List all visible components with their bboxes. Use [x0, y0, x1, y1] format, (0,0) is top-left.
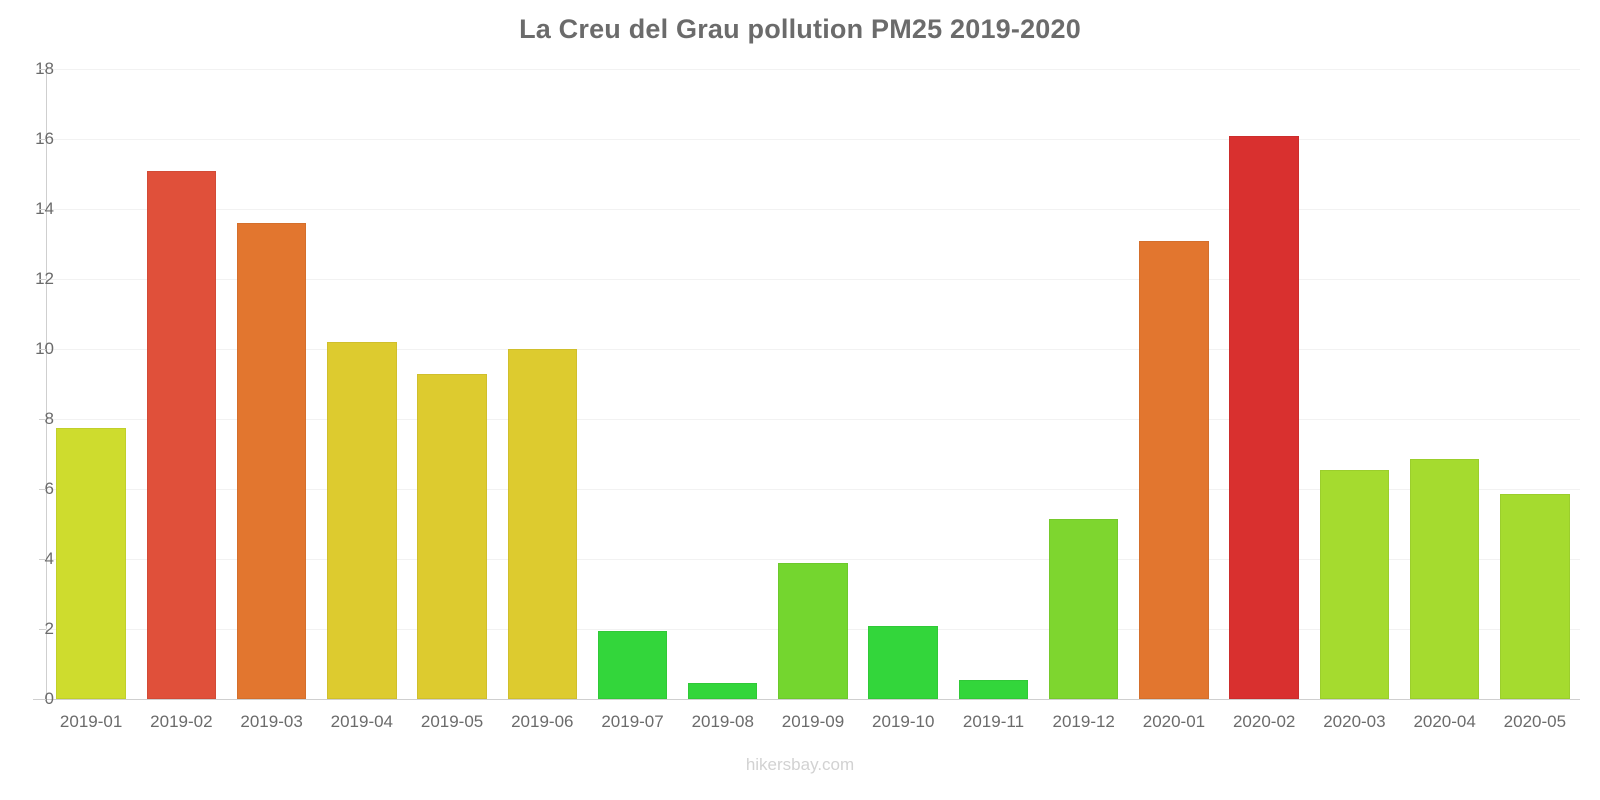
bar[interactable] [1500, 494, 1569, 699]
x-axis-tick-label: 2020-01 [1129, 712, 1219, 732]
bars-group [46, 69, 1580, 699]
x-axis-tick-label: 2019-05 [407, 712, 497, 732]
bar[interactable] [959, 680, 1028, 699]
x-axis-tick-label: 2019-09 [768, 712, 858, 732]
bar[interactable] [1410, 459, 1479, 699]
y-axis-tick-mark [39, 139, 46, 140]
x-axis-tick-label: 2019-04 [317, 712, 407, 732]
bar-slot [1129, 69, 1219, 699]
bar-slot [497, 69, 587, 699]
bar-slot [1219, 69, 1309, 699]
y-axis-tick-mark [39, 699, 46, 700]
x-axis-line [33, 699, 1580, 700]
y-axis-tick-mark [39, 349, 46, 350]
bar[interactable] [1139, 241, 1208, 700]
bar[interactable] [868, 626, 937, 700]
x-axis-tick-label: 2020-05 [1490, 712, 1580, 732]
x-axis-tick-label: 2020-04 [1400, 712, 1490, 732]
x-axis-tick-label: 2019-10 [858, 712, 948, 732]
bar-slot [858, 69, 948, 699]
bar-slot [948, 69, 1038, 699]
x-axis-tick-label: 2019-02 [136, 712, 226, 732]
x-axis-tick-label: 2019-01 [46, 712, 136, 732]
x-axis-tick-label: 2019-06 [497, 712, 587, 732]
x-axis-tick-label: 2019-11 [948, 712, 1038, 732]
bar-slot [317, 69, 407, 699]
bar-slot [1039, 69, 1129, 699]
y-axis-tick-mark [39, 629, 46, 630]
x-axis-tick-label: 2019-12 [1039, 712, 1129, 732]
bar-slot [1490, 69, 1580, 699]
bar-slot [407, 69, 497, 699]
bar-slot [587, 69, 677, 699]
bar[interactable] [598, 631, 667, 699]
chart-container: La Creu del Grau pollution PM25 2019-202… [0, 0, 1600, 800]
footer-credit: hikersbay.com [0, 755, 1600, 775]
y-axis-tick-mark [39, 419, 46, 420]
bar[interactable] [56, 428, 125, 699]
y-axis-tick-mark [39, 559, 46, 560]
y-axis-tick-mark [39, 489, 46, 490]
bar-slot [226, 69, 316, 699]
bar[interactable] [1320, 470, 1389, 699]
bar-slot [1400, 69, 1490, 699]
chart-title: La Creu del Grau pollution PM25 2019-202… [0, 14, 1600, 45]
bar[interactable] [688, 683, 757, 699]
x-axis-tick-label: 2019-08 [678, 712, 768, 732]
y-axis-tick-mark [39, 209, 46, 210]
bar-slot [136, 69, 226, 699]
x-axis-tick-label: 2019-07 [587, 712, 677, 732]
x-axis-tick-label: 2020-02 [1219, 712, 1309, 732]
bar[interactable] [1049, 519, 1118, 699]
bar[interactable] [508, 349, 577, 699]
bar[interactable] [1229, 136, 1298, 700]
y-axis-tick-mark [39, 279, 46, 280]
bar[interactable] [778, 563, 847, 700]
bar-slot [1309, 69, 1399, 699]
bar[interactable] [237, 223, 306, 699]
x-axis-tick-label: 2020-03 [1309, 712, 1399, 732]
bar[interactable] [417, 374, 486, 700]
bar-slot [768, 69, 858, 699]
bar[interactable] [147, 171, 216, 700]
bar-slot [46, 69, 136, 699]
bar[interactable] [327, 342, 396, 699]
y-axis-tick-mark [39, 69, 46, 70]
bar-slot [678, 69, 768, 699]
x-axis-tick-label: 2019-03 [226, 712, 316, 732]
